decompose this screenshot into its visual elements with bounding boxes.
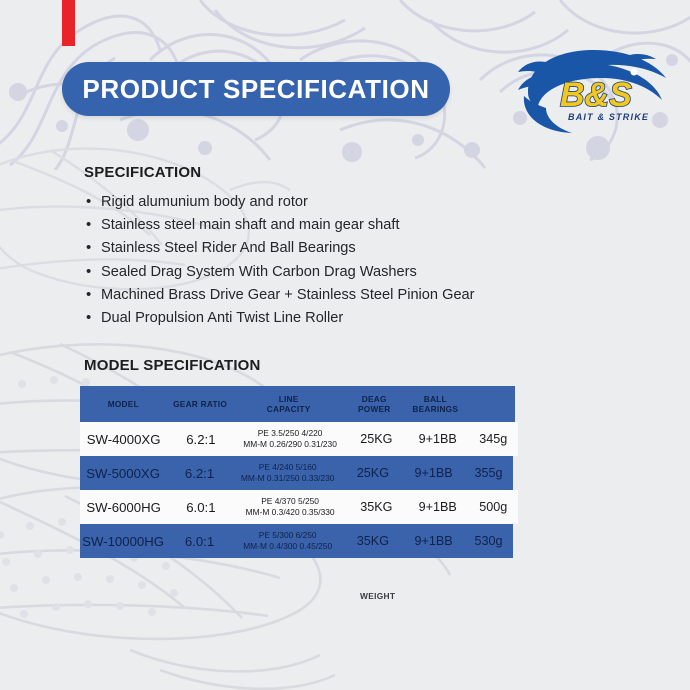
column-header-gear-ratio: GEAR RATIO [167, 399, 234, 409]
table-header-row: MODEL GEAR RATIO LINE CAPACITY DEAG POWE… [80, 386, 515, 422]
list-item: Rigid alumunium body and rotor [84, 191, 554, 214]
column-header-ball-bearings-line2: BEARINGS [405, 404, 466, 414]
page-title-banner: PRODUCT SPECIFICATION [62, 62, 450, 116]
cell-line-capacity-pe: PE 3.5/250 4/220 [235, 428, 346, 440]
cell-gear-ratio: 6.0:1 [166, 534, 233, 549]
table-row: SW-5000XG 6.2:1 PE 4/240 5/160 MM-M 0.31… [80, 456, 513, 490]
specification-heading: SPECIFICATION [84, 164, 554, 181]
cell-line-capacity-mm: MM-M 0.3/420 0.35/330 [235, 507, 346, 519]
cell-weight: 500g [468, 500, 518, 514]
table-row: SW-6000HG 6.0:1 PE 4/370 5/250 MM-M 0.3/… [80, 490, 518, 524]
cell-line-capacity-pe: PE 4/370 5/250 [235, 496, 346, 508]
cell-weight: 530g [464, 534, 513, 548]
cell-drag-power: 25KG [343, 466, 404, 480]
list-item: Machined Brass Drive Gear + Stainless St… [84, 284, 554, 307]
column-header-drag-power-line1: DEAG [344, 394, 405, 404]
cell-weight: 355g [464, 466, 513, 480]
table-row: SW-4000XG 6.2:1 PE 3.5/250 4/220 MM-M 0.… [80, 422, 518, 456]
cell-drag-power: 35KG [346, 500, 407, 514]
table-row: SW-10000HG 6.0:1 PE 5/300 6/250 MM-M 0.4… [80, 524, 513, 558]
cell-line-capacity-mm: MM-M 0.26/290 0.31/230 [235, 439, 346, 451]
cell-ball-bearings: 9+1BB [407, 432, 468, 446]
cell-drag-power: 25KG [346, 432, 407, 446]
cell-line-capacity-mm: MM-M 0.4/300 0.45/250 [233, 541, 343, 553]
brand-logo: B&S BAIT & STRIKE [516, 44, 674, 136]
list-item: Sealed Drag System With Carbon Drag Wash… [84, 261, 554, 284]
cell-model: SW-10000HG [80, 534, 166, 549]
cell-ball-bearings: 9+1BB [403, 534, 464, 548]
cell-gear-ratio: 6.0:1 [167, 500, 234, 515]
cell-drag-power: 35KG [343, 534, 404, 548]
cell-line-capacity: PE 4/240 5/160 MM-M 0.31/250 0.33/230 [233, 462, 343, 485]
product-specification-page: PRODUCT SPECIFICATION B&S BAIT & STRIKE … [0, 0, 690, 690]
list-item: Stainless steel main shaft and main gear… [84, 214, 554, 237]
cell-model: SW-5000XG [80, 466, 166, 481]
cell-gear-ratio: 6.2:1 [166, 466, 233, 481]
cell-line-capacity: PE 4/370 5/250 MM-M 0.3/420 0.35/330 [235, 496, 346, 519]
svg-text:BAIT & STRIKE: BAIT & STRIKE [568, 112, 649, 122]
column-header-line-capacity: LINE CAPACITY [234, 394, 344, 414]
model-specification-heading: MODEL SPECIFICATION [84, 357, 261, 374]
accent-bar [62, 0, 75, 46]
list-item: Dual Propulsion Anti Twist Line Roller [84, 307, 554, 330]
model-specification-table: MODEL GEAR RATIO LINE CAPACITY DEAG POWE… [80, 386, 518, 558]
column-header-drag-power-line2: POWER [344, 404, 405, 414]
cell-line-capacity-pe: PE 4/240 5/160 [233, 462, 343, 474]
column-header-ball-bearings: BALL BEARINGS [405, 394, 466, 414]
cell-model: SW-4000XG [80, 432, 167, 447]
column-header-model: MODEL [80, 399, 167, 409]
list-item: Stainless Steel Rider And Ball Bearings [84, 237, 554, 260]
column-header-drag-power: DEAG POWER [344, 394, 405, 414]
cell-weight: 345g [468, 432, 518, 446]
cell-model: SW-6000HG [80, 500, 167, 515]
weight-column-footer-label: WEIGHT [360, 591, 395, 601]
page-title: PRODUCT SPECIFICATION [82, 74, 429, 105]
specification-list: Rigid alumunium body and rotor Stainless… [84, 191, 554, 330]
cell-line-capacity-mm: MM-M 0.31/250 0.33/230 [233, 473, 343, 485]
cell-ball-bearings: 9+1BB [407, 500, 468, 514]
column-header-ball-bearings-line1: BALL [405, 394, 466, 404]
column-header-line-capacity-line2: CAPACITY [234, 404, 344, 414]
specification-section: SPECIFICATION Rigid alumunium body and r… [84, 164, 554, 330]
cell-gear-ratio: 6.2:1 [167, 432, 234, 447]
cell-line-capacity-pe: PE 5/300 6/250 [233, 530, 343, 542]
cell-ball-bearings: 9+1BB [403, 466, 464, 480]
svg-text:B&S: B&S [560, 76, 632, 114]
cell-line-capacity: PE 5/300 6/250 MM-M 0.4/300 0.45/250 [233, 530, 343, 553]
column-header-line-capacity-line1: LINE [234, 394, 344, 404]
cell-line-capacity: PE 3.5/250 4/220 MM-M 0.26/290 0.31/230 [235, 428, 346, 451]
